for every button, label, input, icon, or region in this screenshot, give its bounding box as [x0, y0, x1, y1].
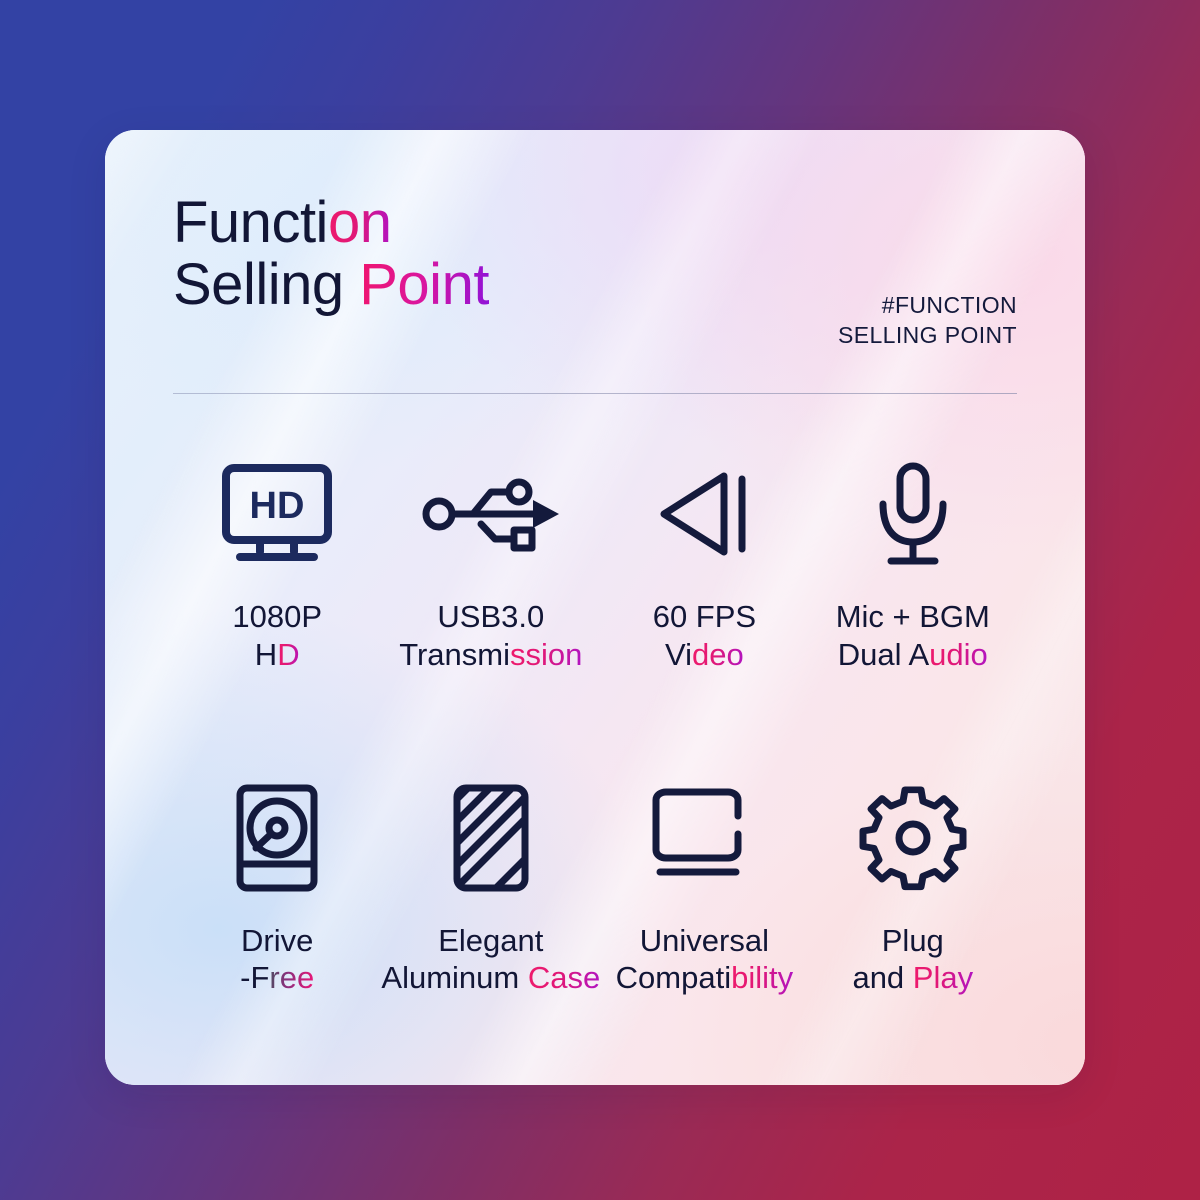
- caption-line2-accent: D: [277, 637, 299, 672]
- usb-icon: [421, 454, 561, 574]
- caption-line2-dark: and: [852, 960, 912, 995]
- header-divider: [173, 393, 1017, 394]
- hashtag-label: #FUNCTION SELLING POINT: [838, 290, 1017, 351]
- caption-line1: Elegant: [438, 923, 543, 958]
- caption-line1: 1080P: [232, 599, 322, 634]
- feature-item: HD 1080P HD: [173, 454, 381, 674]
- feature-caption: 60 FPS Video: [653, 598, 756, 674]
- caption-line2-dark: Vi: [665, 637, 692, 672]
- feature-caption: 1080P HD: [232, 598, 322, 674]
- feature-caption: Universal Compatibility: [616, 922, 793, 998]
- caption-line2-dark: Dual A: [838, 637, 929, 672]
- feature-item: 60 FPS Video: [600, 454, 808, 674]
- hd-monitor-icon: HD: [218, 454, 336, 574]
- caption-line1: Plug: [882, 923, 944, 958]
- caption-line2-accent: deo: [692, 637, 744, 672]
- feature-grid: HD 1080P HD: [173, 454, 1017, 997]
- feature-card: FunctionSelling Point #FUNCTION SELLING …: [105, 130, 1085, 1085]
- gear-icon: [863, 778, 963, 898]
- feature-caption: Plug and Play: [852, 922, 973, 998]
- caption-line1: Mic + BGM: [836, 599, 990, 634]
- caption-line1: 60 FPS: [653, 599, 756, 634]
- caption-line2-accent: ree: [269, 960, 314, 995]
- caption-line1: Drive: [241, 923, 313, 958]
- previous-track-icon: [656, 454, 752, 574]
- title-line2-dark: Selling: [173, 252, 359, 317]
- feature-caption: Drive -Free: [240, 922, 314, 998]
- title-line1-dark: Functi: [173, 190, 328, 255]
- feature-caption: Elegant Aluminum Case: [381, 922, 600, 998]
- feature-item: Elegant Aluminum Case: [381, 778, 600, 998]
- title-line1-accent: on: [328, 190, 392, 255]
- microphone-icon: [867, 454, 959, 574]
- feature-caption: USB3.0 Transmission: [399, 598, 582, 674]
- feature-caption: Mic + BGM Dual Audio: [836, 598, 990, 674]
- caption-line2-dark: Compati: [616, 960, 731, 995]
- feature-item: Plug and Play: [809, 778, 1017, 998]
- feature-item: Drive -Free: [173, 778, 381, 998]
- laptop-icon: [652, 778, 756, 898]
- title-line2-accent: Point: [359, 252, 489, 317]
- caption-line1: Universal: [640, 923, 769, 958]
- caption-line2-dark: Aluminum: [381, 960, 527, 995]
- caption-line2-accent: bility: [731, 960, 793, 995]
- caption-line2-accent: udio: [929, 637, 988, 672]
- feature-item: Mic + BGM Dual Audio: [809, 454, 1017, 674]
- poster-canvas: FunctionSelling Point #FUNCTION SELLING …: [0, 0, 1200, 1200]
- caption-line2-accent: ssion: [510, 637, 582, 672]
- feature-item: USB3.0 Transmission: [381, 454, 600, 674]
- caption-line1: USB3.0: [437, 599, 544, 634]
- caption-line2-dark: Transmi: [399, 637, 510, 672]
- aluminum-case-icon: [450, 778, 532, 898]
- caption-line2-dark: -F: [240, 960, 269, 995]
- caption-line2-accent: Case: [528, 960, 600, 995]
- hard-drive-icon: [234, 778, 320, 898]
- caption-line2-accent: Play: [913, 960, 973, 995]
- caption-line2-dark: H: [255, 637, 277, 672]
- card-header: FunctionSelling Point #FUNCTION SELLING …: [173, 192, 1017, 402]
- feature-item: Universal Compatibility: [600, 778, 808, 998]
- svg-text:HD: HD: [250, 485, 305, 527]
